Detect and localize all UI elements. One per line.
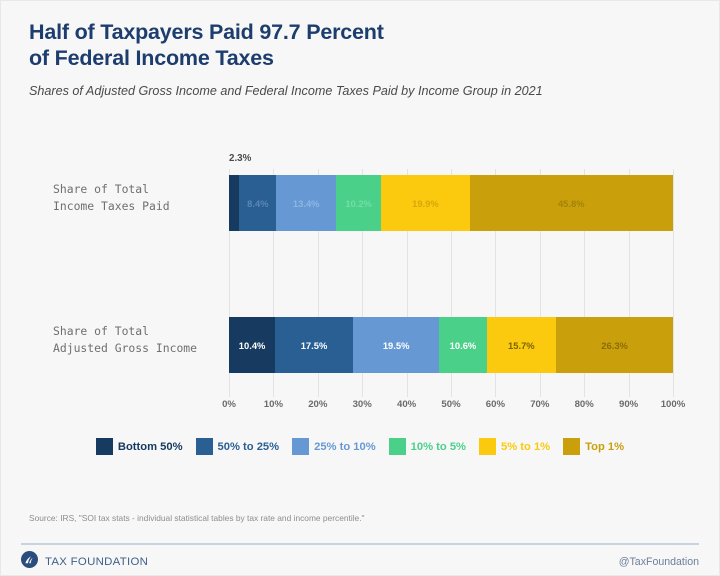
x-axis-tick: 80% <box>575 399 594 410</box>
x-axis-tick: 50% <box>441 399 460 410</box>
x-axis-tick: 90% <box>619 399 638 410</box>
segment-value-label: 45.8% <box>558 198 585 209</box>
legend-swatch <box>389 438 406 455</box>
segment-value-label: 8.4% <box>247 198 268 209</box>
bar-segment: 15.7% <box>487 317 557 373</box>
footer-divider <box>21 543 699 545</box>
legend-item[interactable]: 5% to 1% <box>479 438 550 455</box>
title-line-2: of Federal Income Taxes <box>29 46 274 70</box>
category-label-line: Share of Total <box>53 323 225 340</box>
bar-segment: 10.6% <box>439 317 486 373</box>
bar-segment: 26.3% <box>556 317 673 373</box>
legend-label: Bottom 50% <box>118 441 183 453</box>
value-callout-bottom50-taxes: 2.3% <box>229 153 251 164</box>
x-axis-tick: 10% <box>264 399 283 410</box>
brand-lockup: TAX FOUNDATION <box>21 551 148 573</box>
bar-segment: 10.2% <box>336 175 381 231</box>
segment-value-label: 15.7% <box>508 340 535 351</box>
bar-segment: 45.8% <box>470 175 673 231</box>
chart-header: Half of Taxpayers Paid 97.7 Percent of F… <box>1 1 719 101</box>
legend-item[interactable]: 50% to 25% <box>196 438 280 455</box>
stacked-bar-adjusted-gross-income: 10.4%17.5%19.5%10.6%15.7%26.3% <box>229 317 673 373</box>
segment-value-label: 19.5% <box>383 340 410 351</box>
tax-foundation-logo-icon <box>21 551 38 573</box>
x-axis-tick: 30% <box>353 399 372 410</box>
x-axis-tick: 100% <box>661 399 686 410</box>
segment-value-label: 17.5% <box>301 340 328 351</box>
legend-label: 5% to 1% <box>501 441 550 453</box>
segment-value-label: 19.9% <box>412 198 439 209</box>
legend-label: Top 1% <box>585 441 624 453</box>
legend-item[interactable]: Bottom 50% <box>96 438 183 455</box>
category-label-line: Income Taxes Paid <box>53 198 225 215</box>
legend-label: 50% to 25% <box>218 441 280 453</box>
segment-value-label: 10.4% <box>239 340 266 351</box>
segment-value-label: 10.6% <box>450 340 477 351</box>
bar-segment: 17.5% <box>275 317 353 373</box>
bar-segment: 19.9% <box>381 175 469 231</box>
plot-area: 8.4%13.4%10.2%19.9%45.8% 10.4%17.5%19.5%… <box>229 169 673 397</box>
legend-item[interactable]: 25% to 10% <box>292 438 376 455</box>
x-axis: 0%10%20%30%40%50%60%70%80%90%100% <box>229 399 673 417</box>
legend-swatch <box>196 438 213 455</box>
segment-value-label: 26.3% <box>601 340 628 351</box>
legend-swatch <box>96 438 113 455</box>
legend-item[interactable]: Top 1% <box>563 438 624 455</box>
bar-segment: 19.5% <box>353 317 440 373</box>
x-axis-tick: 40% <box>397 399 416 410</box>
legend-label: 25% to 10% <box>314 441 376 453</box>
stacked-bar-income-taxes-paid: 8.4%13.4%10.2%19.9%45.8% <box>229 175 673 231</box>
source-note: Source: IRS, "SOI tax stats - individual… <box>29 513 365 523</box>
chart-card: Half of Taxpayers Paid 97.7 Percent of F… <box>0 0 720 576</box>
x-axis-tick: 20% <box>308 399 327 410</box>
title-line-1: Half of Taxpayers Paid 97.7 Percent <box>29 20 384 44</box>
category-label-line: Share of Total <box>53 181 225 198</box>
legend-label: 10% to 5% <box>411 441 466 453</box>
segment-value-label: 13.4% <box>293 198 320 209</box>
brand-name: TAX FOUNDATION <box>45 556 148 568</box>
gridline <box>673 169 674 397</box>
footer: TAX FOUNDATION @TaxFoundation <box>21 551 699 573</box>
legend-item[interactable]: 10% to 5% <box>389 438 466 455</box>
legend-swatch <box>292 438 309 455</box>
bar-segment <box>229 175 239 231</box>
page-title: Half of Taxpayers Paid 97.7 Percent of F… <box>29 19 691 71</box>
bar-segment: 8.4% <box>239 175 276 231</box>
x-axis-tick: 60% <box>486 399 505 410</box>
bar-segment: 13.4% <box>276 175 335 231</box>
chart-legend: Bottom 50%50% to 25%25% to 10%10% to 5%5… <box>1 438 719 455</box>
legend-swatch <box>479 438 496 455</box>
social-handle: @TaxFoundation <box>619 556 699 568</box>
category-label-line: Adjusted Gross Income <box>53 340 225 357</box>
x-axis-tick: 70% <box>530 399 549 410</box>
bar-segment: 10.4% <box>229 317 275 373</box>
chart-subtitle: Shares of Adjusted Gross Income and Fede… <box>29 83 669 101</box>
segment-value-label: 10.2% <box>345 198 372 209</box>
legend-swatch <box>563 438 580 455</box>
x-axis-tick: 0% <box>222 399 236 410</box>
